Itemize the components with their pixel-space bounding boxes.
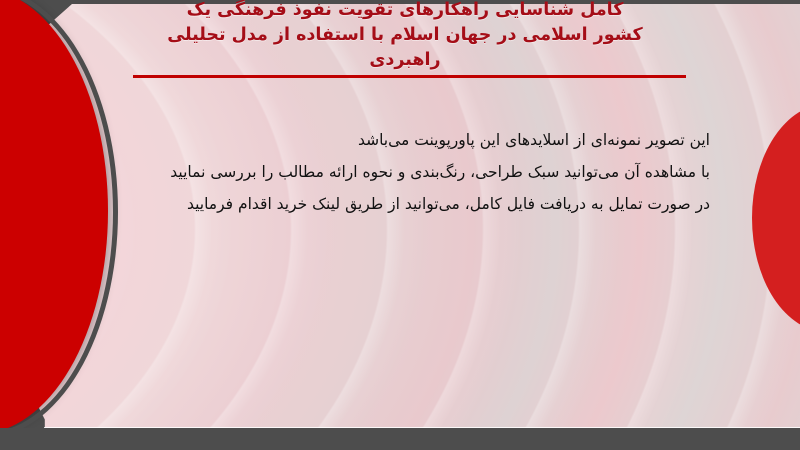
bottom-dark-strip <box>0 428 800 450</box>
title-underline-rule <box>133 75 686 78</box>
body-line-2: با مشاهده آن می‌توانید سبک طراحی، رنگ‌بن… <box>90 156 710 188</box>
title-line-1: کامل شناسایی راهکارهای تقویت نفوذ فرهنگی… <box>120 0 690 23</box>
body-line-1: این تصویر نمونه‌ای از اسلایدهای این پاور… <box>90 124 710 156</box>
presentation-slide: کامل شناسایی راهکارهای تقویت نفوذ فرهنگی… <box>0 0 800 450</box>
title-line-3: راهبردی <box>120 48 690 73</box>
slide-body-text: این تصویر نمونه‌ای از اسلایدهای این پاور… <box>90 124 710 220</box>
title-line-2: کشور اسلامی در جهان اسلام با استفاده از … <box>120 23 690 48</box>
slide-title: کامل شناسایی راهکارهای تقویت نفوذ فرهنگی… <box>120 0 690 73</box>
body-line-3: در صورت تمایل به دریافت فایل کامل، می‌تو… <box>90 188 710 220</box>
